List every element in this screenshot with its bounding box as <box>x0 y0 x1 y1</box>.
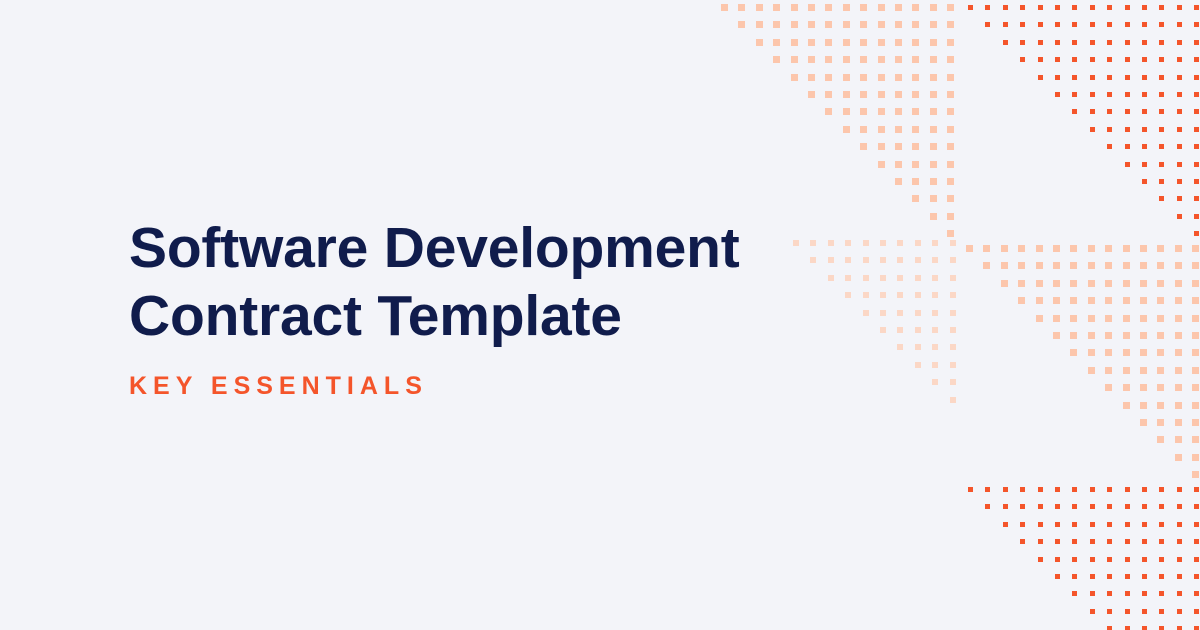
pattern-dot <box>1194 57 1199 62</box>
page-title-line-1: Software Development <box>129 214 739 282</box>
pattern-dot <box>1140 315 1147 322</box>
pattern-dot <box>912 74 919 81</box>
pattern-dot <box>1107 504 1112 509</box>
pattern-dot <box>950 240 956 246</box>
pattern-dot <box>860 4 867 11</box>
pattern-dot <box>860 126 867 133</box>
pattern-dot <box>1105 315 1112 322</box>
pattern-dot <box>1090 574 1095 579</box>
pattern-dot <box>947 126 954 133</box>
hero-banner: Software Development Contract Template K… <box>0 0 1200 630</box>
pattern-dot <box>897 240 903 246</box>
pattern-dot <box>1107 574 1112 579</box>
pattern-dot <box>791 39 798 46</box>
pattern-dot <box>1090 92 1095 97</box>
pattern-dot <box>897 327 903 333</box>
pattern-dot <box>845 257 851 263</box>
pattern-dot <box>1003 22 1008 27</box>
pattern-dot <box>1125 92 1130 97</box>
pattern-dot <box>1070 332 1077 339</box>
pattern-dot <box>1123 262 1130 269</box>
pattern-dot <box>843 4 850 11</box>
pattern-dot <box>1036 297 1043 304</box>
pattern-dot <box>1140 402 1147 409</box>
pattern-dot <box>860 39 867 46</box>
pattern-dot <box>985 487 990 492</box>
pattern-dot <box>1177 40 1182 45</box>
pattern-dot <box>756 39 763 46</box>
pattern-dot <box>1142 179 1147 184</box>
pattern-dot <box>1177 504 1182 509</box>
pattern-dot <box>947 230 954 237</box>
pattern-dot <box>1142 504 1147 509</box>
pattern-dot <box>1192 332 1199 339</box>
pattern-dot <box>1159 127 1164 132</box>
pattern-dot <box>950 327 956 333</box>
pattern-dot <box>738 21 745 28</box>
pattern-dot <box>1107 109 1112 114</box>
pattern-dot <box>1090 22 1095 27</box>
pattern-dot <box>1020 522 1025 527</box>
pattern-dot <box>1107 591 1112 596</box>
pattern-dot <box>1159 57 1164 62</box>
pattern-dot <box>1001 280 1008 287</box>
pattern-dot <box>1175 332 1182 339</box>
pattern-dot <box>1194 22 1199 27</box>
pattern-dot <box>1142 144 1147 149</box>
pattern-dot <box>1175 245 1182 252</box>
pattern-dot <box>1142 487 1147 492</box>
pattern-dot <box>1142 127 1147 132</box>
pattern-dot <box>912 195 919 202</box>
pattern-dot <box>1055 574 1060 579</box>
pattern-dot <box>1159 75 1164 80</box>
pattern-dot <box>880 292 886 298</box>
pattern-dot <box>1194 75 1199 80</box>
pattern-dot <box>895 91 902 98</box>
pattern-dot <box>1159 196 1164 201</box>
pattern-dot <box>968 5 973 10</box>
pattern-dot <box>793 240 799 246</box>
pattern-dot <box>1070 315 1077 322</box>
pattern-dot <box>878 21 885 28</box>
pattern-dot <box>930 74 937 81</box>
pattern-dot <box>1142 626 1147 630</box>
pattern-dot <box>1192 419 1199 426</box>
pattern-dot <box>1175 402 1182 409</box>
pattern-dot <box>878 74 885 81</box>
pattern-dot <box>1194 574 1199 579</box>
pattern-dot <box>1159 557 1164 562</box>
pattern-dot <box>1055 522 1060 527</box>
pattern-dot <box>932 344 938 350</box>
pattern-dot <box>1194 196 1199 201</box>
pattern-dot <box>808 91 815 98</box>
pattern-dot <box>947 178 954 185</box>
pattern-dot <box>1107 626 1112 630</box>
pattern-dot <box>1038 22 1043 27</box>
pattern-dot <box>1177 144 1182 149</box>
pattern-dot <box>860 21 867 28</box>
pattern-dot <box>1105 367 1112 374</box>
pattern-dot <box>1140 332 1147 339</box>
pattern-dot <box>930 4 937 11</box>
pattern-dot <box>1142 57 1147 62</box>
pattern-dot <box>1038 522 1043 527</box>
pattern-dot <box>1175 384 1182 391</box>
pattern-dot <box>1038 75 1043 80</box>
pattern-dot <box>1055 504 1060 509</box>
pattern-dot <box>1107 75 1112 80</box>
pattern-dot <box>966 245 973 252</box>
pattern-dot <box>1142 40 1147 45</box>
pattern-dot <box>1194 231 1199 236</box>
pattern-dot <box>1194 522 1199 527</box>
pattern-dot <box>1194 609 1199 614</box>
pattern-dot <box>1177 162 1182 167</box>
pattern-dot <box>845 275 851 281</box>
pattern-dot <box>1018 280 1025 287</box>
pattern-dot <box>1072 574 1077 579</box>
pattern-dot <box>1194 162 1199 167</box>
pattern-dot <box>845 240 851 246</box>
pattern-dot <box>1123 297 1130 304</box>
pattern-dot <box>1177 591 1182 596</box>
pattern-dot <box>1177 109 1182 114</box>
pattern-dot <box>808 39 815 46</box>
pattern-dot <box>1157 367 1164 374</box>
pattern-dot <box>1175 280 1182 287</box>
pattern-dot <box>1142 539 1147 544</box>
pattern-dot <box>1194 127 1199 132</box>
pattern-dot <box>1125 109 1130 114</box>
pattern-dot <box>947 56 954 63</box>
pattern-dot <box>950 344 956 350</box>
pattern-dot <box>1107 5 1112 10</box>
pattern-dot <box>947 39 954 46</box>
pattern-dot <box>1159 522 1164 527</box>
pattern-dot <box>1107 487 1112 492</box>
pattern-dot <box>791 56 798 63</box>
pattern-dot <box>930 213 937 220</box>
pattern-dot <box>1192 349 1199 356</box>
pattern-dot <box>1177 57 1182 62</box>
pattern-dot <box>932 327 938 333</box>
pattern-dot <box>1107 557 1112 562</box>
pattern-dot <box>1159 22 1164 27</box>
pattern-dot <box>1038 487 1043 492</box>
pattern-dot <box>895 39 902 46</box>
pattern-dot <box>1157 262 1164 269</box>
pattern-dot <box>1020 57 1025 62</box>
pattern-dot <box>880 310 886 316</box>
pattern-dot <box>1090 57 1095 62</box>
pattern-dot <box>1159 504 1164 509</box>
page-title-line-2: Contract Template <box>129 282 739 350</box>
pattern-dot <box>1177 522 1182 527</box>
pattern-dot <box>930 178 937 185</box>
pattern-dot <box>1070 349 1077 356</box>
pattern-dot <box>1020 539 1025 544</box>
pattern-dot <box>950 379 956 385</box>
pattern-dot <box>843 56 850 63</box>
pattern-dot <box>1072 92 1077 97</box>
pattern-dot <box>950 275 956 281</box>
pattern-dot <box>912 91 919 98</box>
pattern-dot <box>947 143 954 150</box>
pattern-dot <box>1159 609 1164 614</box>
pattern-dot <box>1038 5 1043 10</box>
pattern-dot <box>1123 384 1130 391</box>
hero-text-block: Software Development Contract Template K… <box>129 214 739 400</box>
pattern-dot <box>1105 245 1112 252</box>
pattern-dot <box>1142 162 1147 167</box>
pattern-dot <box>843 39 850 46</box>
pattern-dot <box>1072 109 1077 114</box>
pattern-dot <box>1125 609 1130 614</box>
pattern-dot <box>1177 127 1182 132</box>
pattern-dot <box>1107 57 1112 62</box>
pattern-dot <box>1123 349 1130 356</box>
pattern-dot <box>1192 454 1199 461</box>
pattern-dot <box>1194 40 1199 45</box>
pattern-dot <box>1088 367 1095 374</box>
pattern-dot <box>1072 522 1077 527</box>
pattern-dot <box>1157 280 1164 287</box>
pattern-dot <box>1159 40 1164 45</box>
pattern-dot <box>950 362 956 368</box>
pattern-dot <box>930 91 937 98</box>
pattern-dot <box>1105 262 1112 269</box>
pattern-dot <box>1105 280 1112 287</box>
pattern-dot <box>863 275 869 281</box>
pattern-dot <box>1125 557 1130 562</box>
pattern-dot <box>878 39 885 46</box>
pattern-dot <box>1192 402 1199 409</box>
pattern-dot <box>810 240 816 246</box>
pattern-dot <box>1157 315 1164 322</box>
pattern-dot <box>1177 75 1182 80</box>
pattern-dot <box>1105 297 1112 304</box>
pattern-dot <box>912 4 919 11</box>
pattern-dot <box>1123 332 1130 339</box>
pattern-dot <box>843 21 850 28</box>
pattern-dot <box>1194 109 1199 114</box>
pattern-dot <box>1070 245 1077 252</box>
pattern-dot <box>932 292 938 298</box>
pattern-dot <box>1003 5 1008 10</box>
pattern-dot <box>1177 574 1182 579</box>
pattern-dot <box>1177 539 1182 544</box>
pattern-dot <box>878 108 885 115</box>
pattern-dot <box>843 108 850 115</box>
pattern-dot <box>773 56 780 63</box>
pattern-dot <box>947 195 954 202</box>
pattern-dot <box>1194 144 1199 149</box>
pattern-dot <box>1157 419 1164 426</box>
pattern-dot <box>1088 315 1095 322</box>
pattern-dot <box>1038 40 1043 45</box>
pattern-dot <box>1194 591 1199 596</box>
pattern-dot <box>1159 591 1164 596</box>
pattern-dot <box>915 327 921 333</box>
pattern-dot <box>1107 127 1112 132</box>
pattern-dot <box>878 4 885 11</box>
pattern-dot <box>808 56 815 63</box>
pattern-dot <box>947 4 954 11</box>
pattern-dot <box>1194 214 1199 219</box>
pattern-dot <box>1088 245 1095 252</box>
pattern-dot <box>1140 349 1147 356</box>
pattern-dot <box>1088 262 1095 269</box>
pattern-dot <box>1142 92 1147 97</box>
pattern-dot <box>1142 22 1147 27</box>
pattern-dot <box>1072 487 1077 492</box>
pattern-dot <box>1142 5 1147 10</box>
pattern-dot <box>930 56 937 63</box>
pattern-dot <box>912 56 919 63</box>
pattern-dot <box>1142 109 1147 114</box>
page-title: Software Development Contract Template <box>129 214 739 350</box>
pattern-dot <box>1053 332 1060 339</box>
pattern-dot <box>1105 332 1112 339</box>
pattern-dot <box>930 126 937 133</box>
pattern-dot <box>1090 109 1095 114</box>
pattern-dot <box>897 257 903 263</box>
pattern-dot <box>895 178 902 185</box>
pattern-dot <box>1018 245 1025 252</box>
pattern-dot <box>1055 92 1060 97</box>
pattern-dot <box>932 257 938 263</box>
pattern-dot <box>912 39 919 46</box>
pattern-dot <box>1090 127 1095 132</box>
pattern-dot <box>1001 262 1008 269</box>
pattern-dot <box>1125 522 1130 527</box>
pattern-dot <box>1157 245 1164 252</box>
pattern-dot <box>1159 179 1164 184</box>
pattern-dot <box>880 275 886 281</box>
pattern-dot <box>1090 539 1095 544</box>
pattern-dot <box>1055 539 1060 544</box>
pattern-dot <box>860 74 867 81</box>
pattern-dot <box>895 108 902 115</box>
pattern-dot <box>1175 262 1182 269</box>
pattern-dot <box>1140 367 1147 374</box>
pattern-dot <box>1072 40 1077 45</box>
pattern-dot <box>1072 504 1077 509</box>
pattern-dot <box>1070 262 1077 269</box>
pattern-dot <box>1090 522 1095 527</box>
pattern-dot <box>878 126 885 133</box>
pattern-dot <box>895 4 902 11</box>
pattern-dot <box>808 21 815 28</box>
pattern-dot <box>1020 5 1025 10</box>
pattern-dot <box>1194 179 1199 184</box>
pattern-dot <box>1159 109 1164 114</box>
pattern-dot <box>915 310 921 316</box>
pattern-dot <box>1055 5 1060 10</box>
pattern-dot <box>1177 626 1182 630</box>
pattern-dot <box>1142 522 1147 527</box>
pattern-dot <box>897 275 903 281</box>
pattern-dot <box>1003 487 1008 492</box>
pattern-dot <box>1125 22 1130 27</box>
pattern-dot <box>791 74 798 81</box>
pattern-dot <box>915 344 921 350</box>
pattern-dot <box>1090 75 1095 80</box>
pattern-dot <box>1072 75 1077 80</box>
pattern-dot <box>825 21 832 28</box>
pattern-dot <box>863 240 869 246</box>
pattern-dot <box>1175 419 1182 426</box>
pattern-dot <box>1107 609 1112 614</box>
pattern-dot <box>950 257 956 263</box>
pattern-dot <box>985 22 990 27</box>
pattern-dot <box>1159 5 1164 10</box>
pattern-dot <box>1194 557 1199 562</box>
pattern-dot <box>1192 436 1199 443</box>
pattern-dot <box>1125 591 1130 596</box>
pattern-dot <box>912 108 919 115</box>
pattern-dot <box>1036 280 1043 287</box>
pattern-dot <box>878 91 885 98</box>
pattern-dot <box>1090 609 1095 614</box>
pattern-dot <box>1157 436 1164 443</box>
pattern-dot <box>1125 127 1130 132</box>
pattern-dot <box>912 178 919 185</box>
pattern-dot <box>1192 262 1199 269</box>
pattern-dot <box>1157 297 1164 304</box>
pattern-dot <box>1070 297 1077 304</box>
pattern-dot <box>1192 367 1199 374</box>
pattern-dot <box>1123 245 1130 252</box>
pattern-dot <box>1177 22 1182 27</box>
pattern-dot <box>1090 5 1095 10</box>
pattern-dot <box>1192 315 1199 322</box>
pattern-dot <box>1020 22 1025 27</box>
pattern-dot <box>1088 297 1095 304</box>
pattern-dot <box>1142 574 1147 579</box>
pattern-dot <box>828 275 834 281</box>
pattern-dot <box>1157 332 1164 339</box>
pattern-dot <box>1072 539 1077 544</box>
pattern-dot <box>1159 626 1164 630</box>
pattern-dot <box>912 143 919 150</box>
pattern-dot <box>1003 40 1008 45</box>
pattern-dot <box>1053 280 1060 287</box>
pattern-dot <box>932 362 938 368</box>
pattern-dot <box>1125 626 1130 630</box>
pattern-dot <box>897 292 903 298</box>
pattern-dot <box>878 56 885 63</box>
pattern-dot <box>930 21 937 28</box>
pattern-dot <box>808 4 815 11</box>
pattern-dot <box>880 240 886 246</box>
pattern-dot <box>1175 315 1182 322</box>
pattern-dot <box>947 74 954 81</box>
pattern-dot <box>930 161 937 168</box>
pattern-dot <box>1053 297 1060 304</box>
pattern-dot <box>1001 245 1008 252</box>
pattern-dot <box>880 257 886 263</box>
pattern-dot <box>1088 280 1095 287</box>
pattern-dot <box>1159 574 1164 579</box>
pattern-dot <box>1125 539 1130 544</box>
pattern-dot <box>880 327 886 333</box>
pattern-dot <box>915 362 921 368</box>
pattern-dot <box>773 39 780 46</box>
pattern-dot <box>1125 144 1130 149</box>
